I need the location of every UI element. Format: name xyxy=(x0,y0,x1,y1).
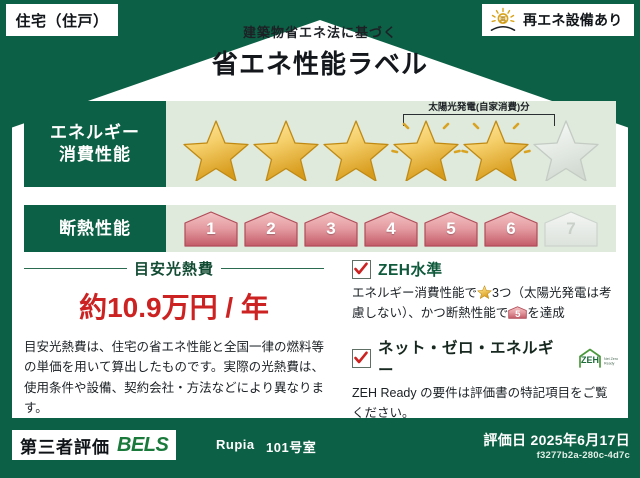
title-subtitle: 建築物省エネ法に基づく xyxy=(0,22,640,41)
building-name: Rupia xyxy=(216,437,255,452)
cost-heading-label: 目安光熱費 xyxy=(134,258,214,279)
checkbox-checked-icon-2 xyxy=(352,349,371,368)
energy-performance-row: エネルギー 消費性能 太陽光発電(自家消費)分 xyxy=(24,101,616,187)
insulation-level-7: 7 xyxy=(543,210,599,248)
star-filled-solar-4 xyxy=(391,115,461,181)
energy-performance-label-box: エネルギー 消費性能 xyxy=(24,101,166,187)
cost-value: 約10.9万円 / 年 xyxy=(24,286,324,326)
zeh-block: ZEH水準 エネルギー消費性能で3つ（太陽光発電は考慮しない）、かつ断熱性能で5… xyxy=(352,258,620,423)
svg-text:Ready: Ready xyxy=(604,362,615,366)
net-zero-energy-title: ネット・ゼロ・エネルギー xyxy=(378,336,565,380)
title-main: 省エネ性能ラベル xyxy=(0,44,640,81)
zeh-standard-row: ZEH水準 xyxy=(352,258,620,280)
zeh-standard-body-a: エネルギー消費性能で xyxy=(352,286,477,300)
inline-star-icon xyxy=(477,284,492,299)
evaluation-id: f3277b2a-280c-4d7c xyxy=(537,450,630,461)
svg-text:Net Zero: Net Zero xyxy=(604,357,618,361)
insulation-level-1-num: 1 xyxy=(183,219,239,239)
energy-label-line2: 消費性能 xyxy=(59,144,131,166)
bels-logo-box: 第三者評価 BELS xyxy=(12,430,176,460)
insulation-level-5: 5 xyxy=(423,210,479,248)
insulation-level-6-num: 6 xyxy=(483,219,539,239)
cost-heading-row: 目安光熱費 xyxy=(24,258,324,279)
label-title-block: 建築物省エネ法に基づく 省エネ性能ラベル xyxy=(0,22,640,81)
energy-stars-area: 太陽光発電(自家消費)分 xyxy=(166,101,616,187)
star-empty-6 xyxy=(531,115,601,181)
insulation-label-box: 断熱性能 xyxy=(24,205,166,252)
room-number: 101号室 xyxy=(266,437,316,456)
insulation-level-5-num: 5 xyxy=(423,219,479,239)
net-zero-energy-body: ZEH Ready の要件は評価書の特記項目をご覧ください。 xyxy=(352,383,620,423)
star-rating xyxy=(166,101,616,187)
insulation-scale-area: 1 2 3 4 5 xyxy=(166,205,616,252)
star-filled-3 xyxy=(321,115,391,181)
insulation-level-7-num: 7 xyxy=(543,219,599,239)
label-footer: 第三者評価 BELS Rupia 101号室 評価日 2025年6月17日 f3… xyxy=(0,422,640,478)
bels-logo-text: BELS xyxy=(117,434,168,457)
insulation-level-1: 1 xyxy=(183,210,239,248)
evaluation-date: 評価日 2025年6月17日 xyxy=(483,430,630,450)
zeh-standard-title: ZEH水準 xyxy=(378,258,443,280)
energy-label-line1: エネルギー xyxy=(50,122,140,144)
insulation-level-3-num: 3 xyxy=(303,219,359,239)
insulation-level-2-num: 2 xyxy=(243,219,299,239)
inline-insulation-badge-num: 5 xyxy=(508,307,527,322)
bels-third-party-label: 第三者評価 xyxy=(20,433,110,458)
checkbox-checked-icon xyxy=(352,260,371,279)
cost-heading-rule-right xyxy=(221,268,324,270)
inline-insulation-badge-icon: 5 xyxy=(508,305,527,320)
energy-performance-label: 住宅（住戸） 再 再エネ設備あり 建築物省エネ法に基づく xyxy=(0,0,640,478)
estimated-utility-cost-block: 目安光熱費 約10.9万円 / 年 目安光熱費は、住宅の省エネ性能と全国一律の燃… xyxy=(24,258,324,418)
insulation-level-6: 6 xyxy=(483,210,539,248)
star-filled-solar-5 xyxy=(461,115,531,181)
insulation-house-scale: 1 2 3 4 5 xyxy=(166,205,616,252)
insulation-level-4-num: 4 xyxy=(363,219,419,239)
zeh-standard-body: エネルギー消費性能で3つ（太陽光発電は考慮しない）、かつ断熱性能で5を達成 xyxy=(352,283,620,323)
zeh-ready-logo-icon: ZEH Net Zero Ready xyxy=(576,347,620,369)
cost-heading-rule-left xyxy=(24,268,127,270)
insulation-performance-row: 断熱性能 xyxy=(24,205,616,252)
insulation-level-2: 2 xyxy=(243,210,299,248)
star-filled-1 xyxy=(181,115,251,181)
cost-note: 目安光熱費は、住宅の省エネ性能と全国一律の燃料等の単価を用いて算出したものです。… xyxy=(24,337,324,418)
zeh-standard-body-c: を達成 xyxy=(527,306,565,320)
net-zero-energy-row: ネット・ゼロ・エネルギー ZEH Net Zero Ready xyxy=(352,336,620,380)
star-filled-2 xyxy=(251,115,321,181)
insulation-level-3: 3 xyxy=(303,210,359,248)
svg-text:ZEH: ZEH xyxy=(581,355,599,365)
insulation-level-4: 4 xyxy=(363,210,419,248)
insulation-label: 断熱性能 xyxy=(59,218,131,240)
